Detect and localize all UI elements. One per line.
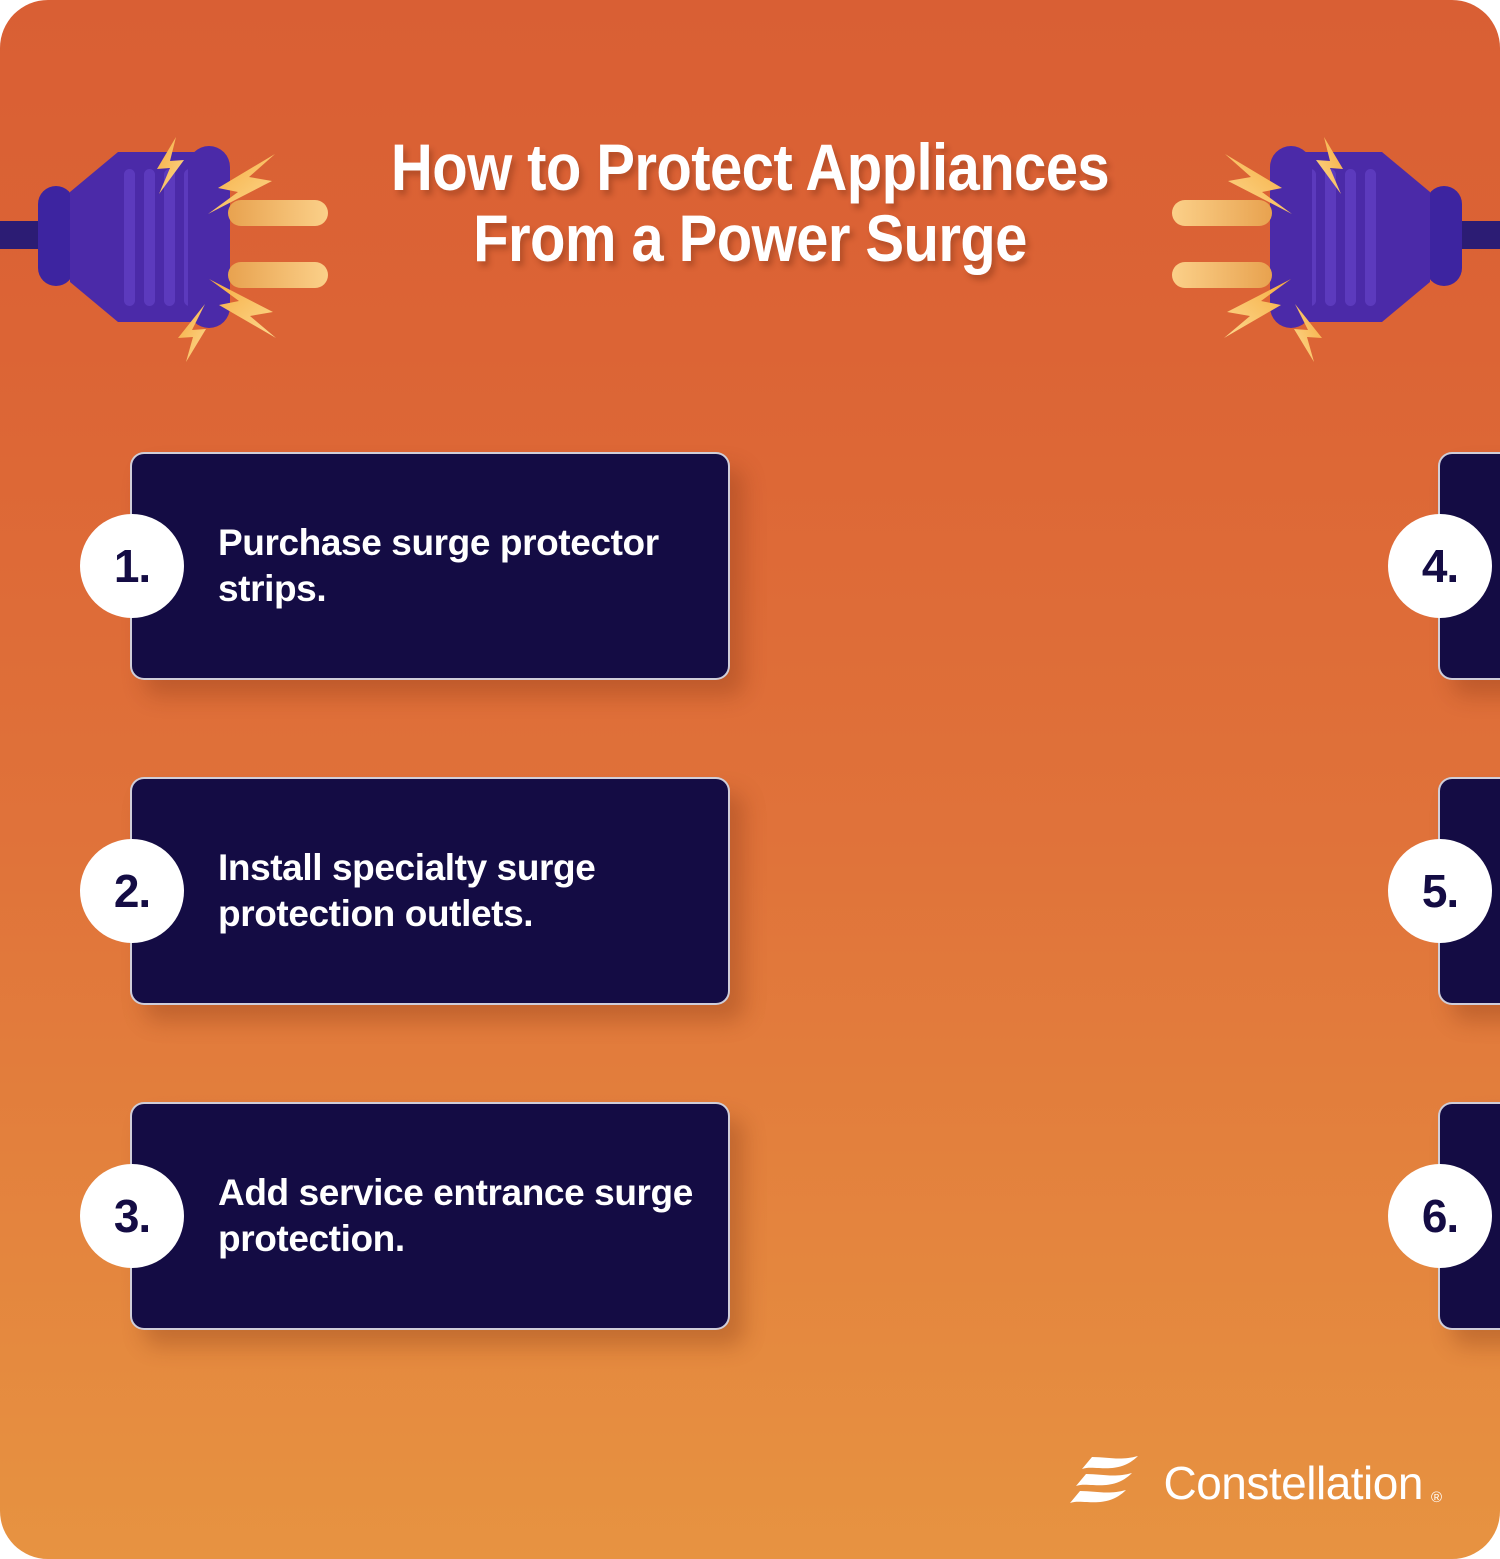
step-number-badge: 1.	[80, 514, 184, 618]
step-card[interactable]: 4. Unplug appliances before severe weath…	[1438, 452, 1500, 680]
step-card[interactable]: 1. Purchase surge protector strips.	[130, 452, 730, 680]
step-cell: 1. Purchase surge protector strips.	[0, 452, 750, 777]
infographic-poster: How to Protect Appliances From a Power S…	[0, 0, 1500, 1559]
page-title-line-2: From a Power Surge	[310, 203, 1190, 274]
step-cell: 4. Unplug appliances before severe weath…	[750, 452, 1500, 777]
page-title: How to Protect Appliances From a Power S…	[310, 132, 1190, 273]
step-number-badge: 6.	[1388, 1164, 1492, 1268]
step-card[interactable]: 6. Bring in the help of a professional e…	[1438, 1102, 1500, 1330]
step-card[interactable]: 5. Unplug appliances when there’s an out…	[1438, 777, 1500, 1005]
steps-row: 1. Purchase surge protector strips. 4. U…	[0, 452, 1500, 777]
step-number-badge: 2.	[80, 839, 184, 943]
constellation-waves-logo-icon	[1068, 1455, 1142, 1511]
step-text: Add service entrance surge protection.	[218, 1170, 718, 1262]
page-title-line-1: How to Protect Appliances	[310, 132, 1190, 203]
steps-row: 2. Install specialty surge protection ou…	[0, 777, 1500, 1102]
step-cell: 2. Install specialty surge protection ou…	[0, 777, 750, 1102]
brand-logo: Constellation ®	[1068, 1455, 1443, 1511]
step-number-badge: 5.	[1388, 839, 1492, 943]
step-cell: 6. Bring in the help of a professional e…	[750, 1102, 1500, 1427]
header: How to Protect Appliances From a Power S…	[0, 122, 1500, 372]
step-text: Install specialty surge protection outle…	[218, 845, 718, 937]
step-number-badge: 3.	[80, 1164, 184, 1268]
step-card[interactable]: 2. Install specialty surge protection ou…	[130, 777, 730, 1005]
step-cell: 5. Unplug appliances when there’s an out…	[750, 777, 1500, 1102]
steps-grid: 1. Purchase surge protector strips. 4. U…	[0, 452, 1500, 1427]
step-cell: 3. Add service entrance surge protection…	[0, 1102, 750, 1427]
step-card[interactable]: 3. Add service entrance surge protection…	[130, 1102, 730, 1330]
step-text: Purchase surge protector strips.	[218, 520, 718, 612]
brand-name: Constellation	[1164, 1460, 1423, 1506]
registered-trademark-icon: ®	[1431, 1489, 1442, 1506]
steps-row: 3. Add service entrance surge protection…	[0, 1102, 1500, 1427]
step-number-badge: 4.	[1388, 514, 1492, 618]
